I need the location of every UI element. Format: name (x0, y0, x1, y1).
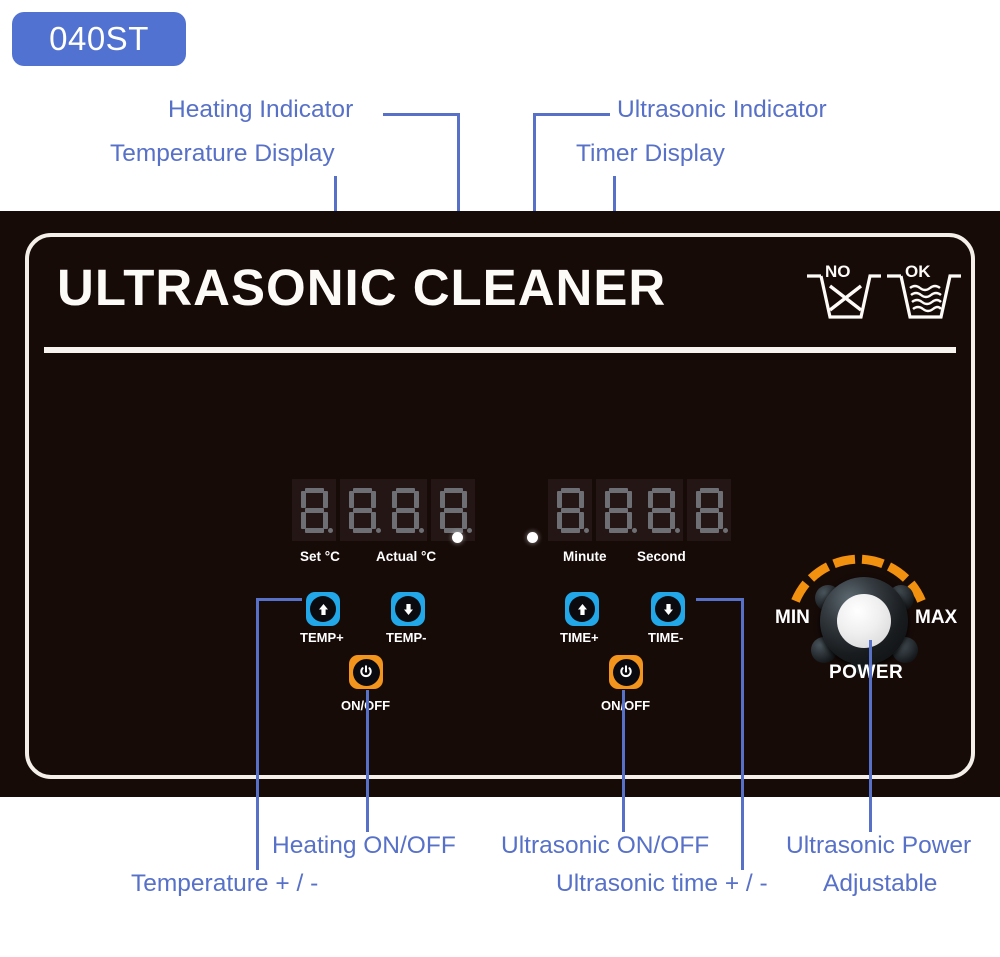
temp-down-button[interactable] (391, 592, 425, 626)
annotation-timer-display: Timer Display (576, 140, 725, 168)
temp-up-button[interactable] (306, 592, 340, 626)
leader-ultrasonic-power-v (869, 640, 872, 832)
knob-max-label: MAX (915, 607, 957, 629)
leader-ultrasonic-time-h (696, 598, 744, 601)
knob-min-label: MIN (775, 607, 810, 629)
seg-cell (340, 479, 384, 541)
heating-indicator-led (452, 532, 463, 543)
timer-second-display (639, 479, 731, 541)
arrow-up-icon (310, 596, 336, 622)
leader-temperature-plus-minus-h (256, 598, 302, 601)
time-up-label: TIME+ (560, 630, 599, 645)
arrow-down-icon (395, 596, 421, 622)
time-down-button[interactable] (651, 592, 685, 626)
annotation-heating-on-off: Heating ON/OFF (272, 832, 456, 860)
heating-on-off-button[interactable] (349, 655, 383, 689)
power-icon (613, 659, 640, 686)
ok-basket-icon (887, 276, 961, 317)
annotation-ultrasonic-on-off: Ultrasonic ON/OFF (501, 832, 709, 860)
ok-basket-label: OK (905, 262, 931, 282)
annotation-ultrasonic-indicator: Ultrasonic Indicator (617, 96, 827, 124)
temperature-set-caption: Set °C (300, 549, 340, 564)
temperature-actual-display (383, 479, 475, 541)
timer-minute-caption: Minute (563, 549, 607, 564)
leader-heating-on-off-v (366, 690, 369, 832)
annotation-heating-indicator: Heating Indicator (168, 96, 353, 124)
temp-down-label: TEMP- (386, 630, 426, 645)
seg-cell (383, 479, 427, 541)
seg-cell (639, 479, 683, 541)
timer-minute-display (548, 479, 640, 541)
ultrasonic-indicator-led (527, 532, 538, 543)
model-badge: 040ST (12, 12, 186, 66)
power-icon (353, 659, 380, 686)
no-basket-icon (807, 276, 881, 317)
arrow-down-icon (655, 596, 681, 622)
temperature-set-display (292, 479, 384, 541)
leader-temperature-plus-minus-v (256, 598, 259, 870)
annotation-temperature-display: Temperature Display (110, 140, 335, 168)
annotation-ultrasonic-time-plus-minus: Ultrasonic time + / - (556, 870, 768, 898)
model-badge-label: 040ST (49, 20, 149, 58)
knob-name-label: POWER (829, 662, 903, 684)
seg-cell (548, 479, 592, 541)
seg-cell (292, 479, 336, 541)
temp-up-label: TEMP+ (300, 630, 344, 645)
ultrasonic-on-off-label: ON/OFF (601, 698, 650, 713)
leader-ultrasonic-indicator-h (533, 113, 610, 116)
timer-second-caption: Second (637, 549, 686, 564)
no-basket-label: NO (825, 262, 851, 282)
leader-ultrasonic-time-v (741, 598, 744, 870)
panel-divider (44, 347, 956, 353)
time-up-button[interactable] (565, 592, 599, 626)
knob-center-cap[interactable] (837, 594, 891, 648)
seg-cell (596, 479, 640, 541)
seg-cell (431, 479, 475, 541)
ultrasonic-power-knob[interactable]: MIN MAX POWER (775, 545, 950, 690)
temperature-actual-caption: Actual °C (376, 549, 436, 564)
arrow-up-icon (569, 596, 595, 622)
panel-title: ULTRASONIC CLEANER (57, 258, 666, 317)
time-down-label: TIME- (648, 630, 683, 645)
seg-cell (687, 479, 731, 541)
annotation-ultrasonic-power-adjustable: Adjustable (823, 870, 937, 898)
leader-heating-indicator-h (383, 113, 460, 116)
annotation-ultrasonic-power: Ultrasonic Power (786, 832, 971, 860)
ultrasonic-on-off-button[interactable] (609, 655, 643, 689)
leader-ultrasonic-on-off-v (622, 690, 625, 832)
annotation-temperature-plus-minus: Temperature + / - (131, 870, 318, 898)
